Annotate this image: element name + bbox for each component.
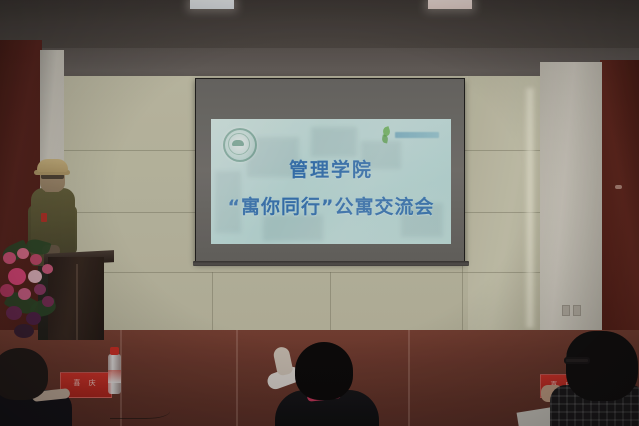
speaker-cap [37, 159, 68, 172]
audience-center-clapping [281, 342, 367, 426]
ceiling-light [428, 0, 472, 9]
projection-screen: 管理学院 “寓你同行”公寓交流会 [195, 78, 465, 263]
stage-seam [236, 330, 238, 426]
audience-right-glasses [536, 333, 639, 426]
screen-surface: 管理学院 “寓你同行”公寓交流会 [196, 79, 464, 262]
power-outlet [562, 305, 582, 316]
ceiling-light [190, 0, 234, 9]
projector-screen-roller [193, 261, 469, 266]
presentation-slide: 管理学院 “寓你同行”公寓交流会 [211, 119, 451, 244]
pillar-right [540, 62, 602, 340]
floor-cable [110, 400, 170, 419]
lapel-badge [41, 213, 47, 222]
wall-seam [62, 272, 542, 273]
conference-hall-photo: 管理学院 “寓你同行”公寓交流会 [0, 0, 639, 426]
audience-left-partial [0, 348, 70, 426]
slide-title-line-2: “寓你同行”公寓交流会 [211, 192, 451, 219]
stage-seam [408, 330, 410, 426]
floral-arrangement [0, 238, 62, 340]
wall-highlight [615, 185, 622, 189]
wood-panel-right [600, 60, 639, 340]
podium-edge [76, 264, 78, 340]
sponsor-logo [375, 127, 441, 145]
wall-seam [330, 272, 331, 330]
wall-light-reflection [524, 88, 536, 328]
wall-seam [212, 272, 213, 330]
water-bottle [108, 354, 121, 394]
slide-title-line-1: 管理学院 [211, 155, 451, 182]
